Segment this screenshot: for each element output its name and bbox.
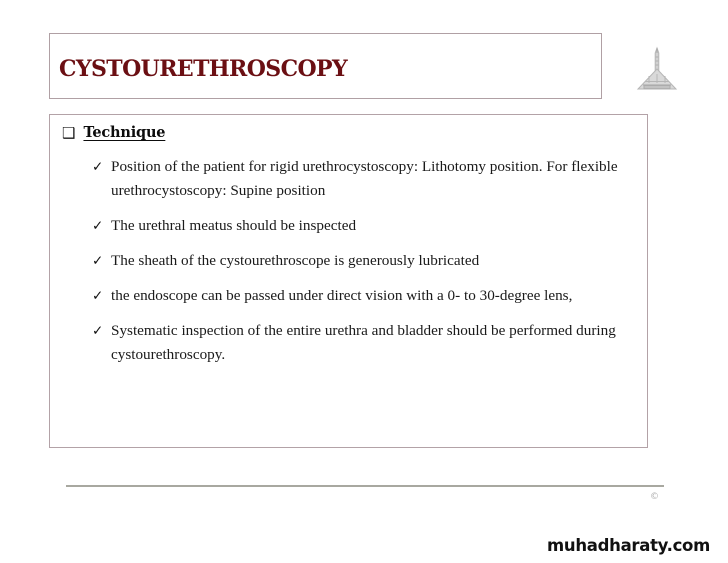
list-item-text: Systematic inspection of the entire uret… [111,319,639,367]
institution-emblem-icon [631,45,683,97]
page-title: Cystourethroscopy [59,48,347,84]
list-item: ✓ The urethral meatus should be inspecte… [92,214,639,238]
copyright-mark: © [650,491,659,503]
list-item-text: The urethral meatus should be inspected [111,214,639,238]
list-item: ✓ the endoscope can be passed under dire… [92,284,639,308]
list-item-text: Position of the patient for rigid urethr… [111,155,639,203]
section-heading-label: Technique [83,123,165,143]
slide-canvas: Cystourethroscopy ❑ Technique ✓ [0,0,728,563]
check-icon: ✓ [92,155,111,179]
list-item: ✓ Position of the patient for rigid uret… [92,155,639,203]
list-item-text: the endoscope can be passed under direct… [111,284,639,308]
check-icon: ✓ [92,284,111,308]
list-item: ✓ Systematic inspection of the entire ur… [92,319,639,367]
square-bullet-icon: ❑ [62,123,75,143]
check-icon: ✓ [92,214,111,238]
check-icon: ✓ [92,319,111,343]
slide-title-box: Cystourethroscopy [49,33,602,99]
technique-bullet-list: ✓ Position of the patient for rigid uret… [92,155,639,378]
section-heading: ❑ Technique [62,123,165,143]
footer-divider [66,485,664,487]
content-box: ❑ Technique ✓ Position of the patient fo… [49,114,648,448]
list-item-text: The sheath of the cystourethroscope is g… [111,249,639,273]
list-item: ✓ The sheath of the cystourethroscope is… [92,249,639,273]
site-credit-watermark: muhadharaty.com [547,536,710,556]
check-icon: ✓ [92,249,111,273]
